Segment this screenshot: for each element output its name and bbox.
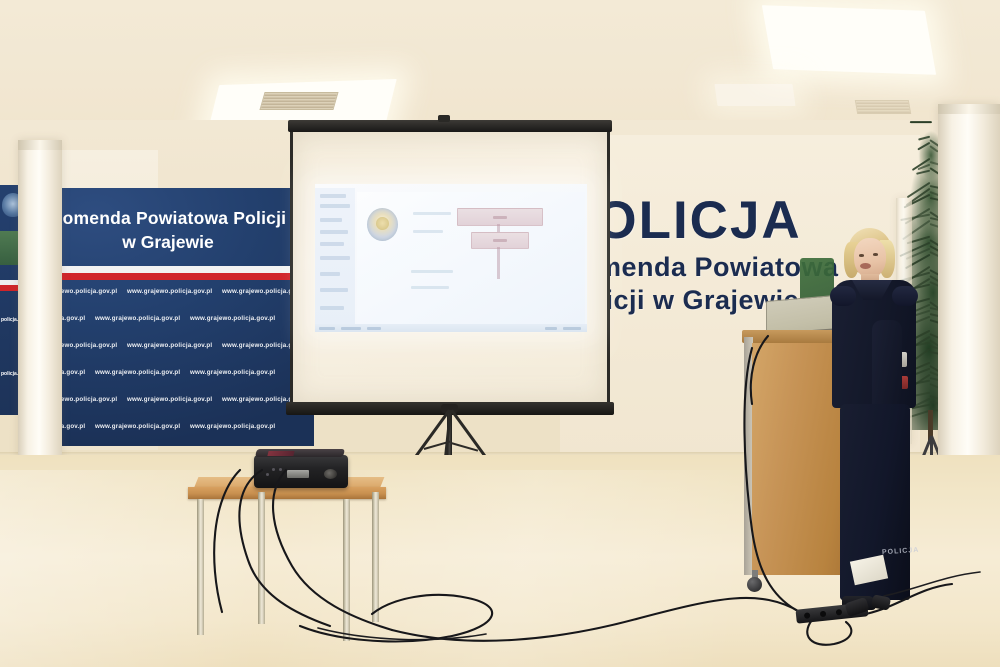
slide-box-label bbox=[493, 216, 507, 219]
slide-text-line bbox=[411, 286, 449, 289]
ceiling-light-panel bbox=[762, 5, 936, 75]
slide-taskbar bbox=[315, 324, 587, 332]
table-leg bbox=[258, 492, 265, 624]
projector-accent-strip bbox=[267, 451, 294, 456]
banner-url-text: www.grajewo.policja.gov.pl bbox=[127, 396, 212, 403]
banner-url-text: www.grajewo.policja.gov.pl bbox=[127, 342, 212, 349]
screen-hook bbox=[438, 115, 450, 122]
taskbar-item bbox=[319, 327, 335, 331]
banner-red-stripe bbox=[22, 273, 314, 280]
slide-diagram-box-top bbox=[457, 208, 543, 226]
banner-url-text: www.grajewo.policja.gov.pl bbox=[127, 288, 212, 295]
projected-slide bbox=[315, 184, 587, 332]
banner-title-line-2: w Grajewie bbox=[22, 232, 314, 253]
slide-sidebar-row bbox=[320, 306, 344, 310]
slide-diagram-box-mid bbox=[471, 232, 529, 249]
uniform-back-text: POLICJA bbox=[882, 547, 920, 557]
power-socket bbox=[804, 612, 811, 619]
rollup-banner: Komenda Powiatowa Policji w Grajewie www… bbox=[22, 188, 314, 446]
banner-url-text: www.grajewo.policja.gov.pl bbox=[190, 315, 275, 322]
slide-sidebar-row bbox=[320, 218, 342, 222]
slide-sidebar-row bbox=[320, 204, 350, 208]
tree-top-spire bbox=[910, 121, 932, 123]
banner-url-pattern: www.grajewo.policja.gov.plwww.grajewo.po… bbox=[22, 284, 314, 446]
photo-scene: POLICJA Komenda Powiatowa Policji w Graj… bbox=[0, 0, 1000, 667]
room-column-left bbox=[18, 140, 62, 492]
banner-url-text: www.grajewo.policja.gov.pl bbox=[95, 423, 180, 430]
banner-white-stripe bbox=[22, 266, 314, 273]
column-capital bbox=[938, 104, 1000, 114]
officer-mouth bbox=[860, 263, 871, 269]
table-leg bbox=[343, 499, 350, 641]
table-leg bbox=[197, 499, 204, 635]
slide-diagram-connector bbox=[497, 247, 500, 279]
screen-canvas bbox=[293, 132, 607, 402]
slide-diagram-connector bbox=[497, 224, 500, 232]
slide-text-line bbox=[411, 270, 453, 273]
banner-url-text: www.grajewo.policja.gov.pl bbox=[95, 315, 180, 322]
ceiling-light-panel bbox=[714, 84, 795, 106]
officer-shoulder-right bbox=[892, 286, 918, 306]
taskbar-item bbox=[341, 327, 361, 331]
slide-text-line bbox=[413, 212, 451, 215]
taskbar-item bbox=[367, 327, 381, 331]
banner-title-line-1: Komenda Powiatowa Policji bbox=[22, 208, 314, 229]
slide-text-line bbox=[413, 230, 443, 233]
ceiling-air-vent bbox=[259, 92, 338, 110]
banner-url-text: www.grajewo.policja.gov.pl bbox=[95, 369, 180, 376]
officer-face bbox=[854, 238, 886, 278]
projector-label-plate bbox=[287, 470, 309, 478]
taskbar-item bbox=[563, 327, 581, 331]
slide-sidebar bbox=[315, 188, 355, 328]
officer-shoulder-left bbox=[830, 286, 856, 306]
ceiling-air-vent bbox=[855, 100, 911, 114]
slide-box-label bbox=[493, 239, 507, 242]
banner-url-text: www.grajewo.policja.gov.pl bbox=[190, 369, 275, 376]
slide-sidebar-row bbox=[320, 256, 350, 260]
slide-sidebar-row bbox=[320, 194, 346, 198]
projector-indicator bbox=[279, 468, 282, 471]
projector-indicator bbox=[272, 468, 275, 471]
officer-eye bbox=[873, 253, 878, 256]
projector-indicator bbox=[266, 473, 269, 476]
table-leg bbox=[372, 492, 379, 622]
table-top-edge bbox=[188, 487, 386, 499]
video-projector bbox=[254, 455, 348, 488]
column-capital bbox=[18, 140, 62, 150]
banner-url-text: www.grajewo.policja.gov.pl bbox=[190, 423, 275, 430]
lectern-caster bbox=[747, 577, 762, 592]
screen-right-rail bbox=[607, 132, 610, 402]
officer-eye bbox=[859, 254, 864, 257]
projection-screen bbox=[290, 120, 610, 415]
slide-sidebar-row bbox=[320, 288, 348, 292]
power-socket bbox=[836, 609, 843, 616]
slide-sidebar-row bbox=[320, 272, 340, 276]
slide-police-emblem-icon bbox=[367, 208, 398, 241]
taskbar-item bbox=[545, 327, 557, 331]
screen-top-casing bbox=[288, 120, 612, 132]
power-socket bbox=[820, 611, 827, 618]
slide-sidebar-row bbox=[320, 242, 344, 246]
projector-lens bbox=[324, 469, 337, 479]
slide-sidebar-row bbox=[320, 230, 348, 234]
